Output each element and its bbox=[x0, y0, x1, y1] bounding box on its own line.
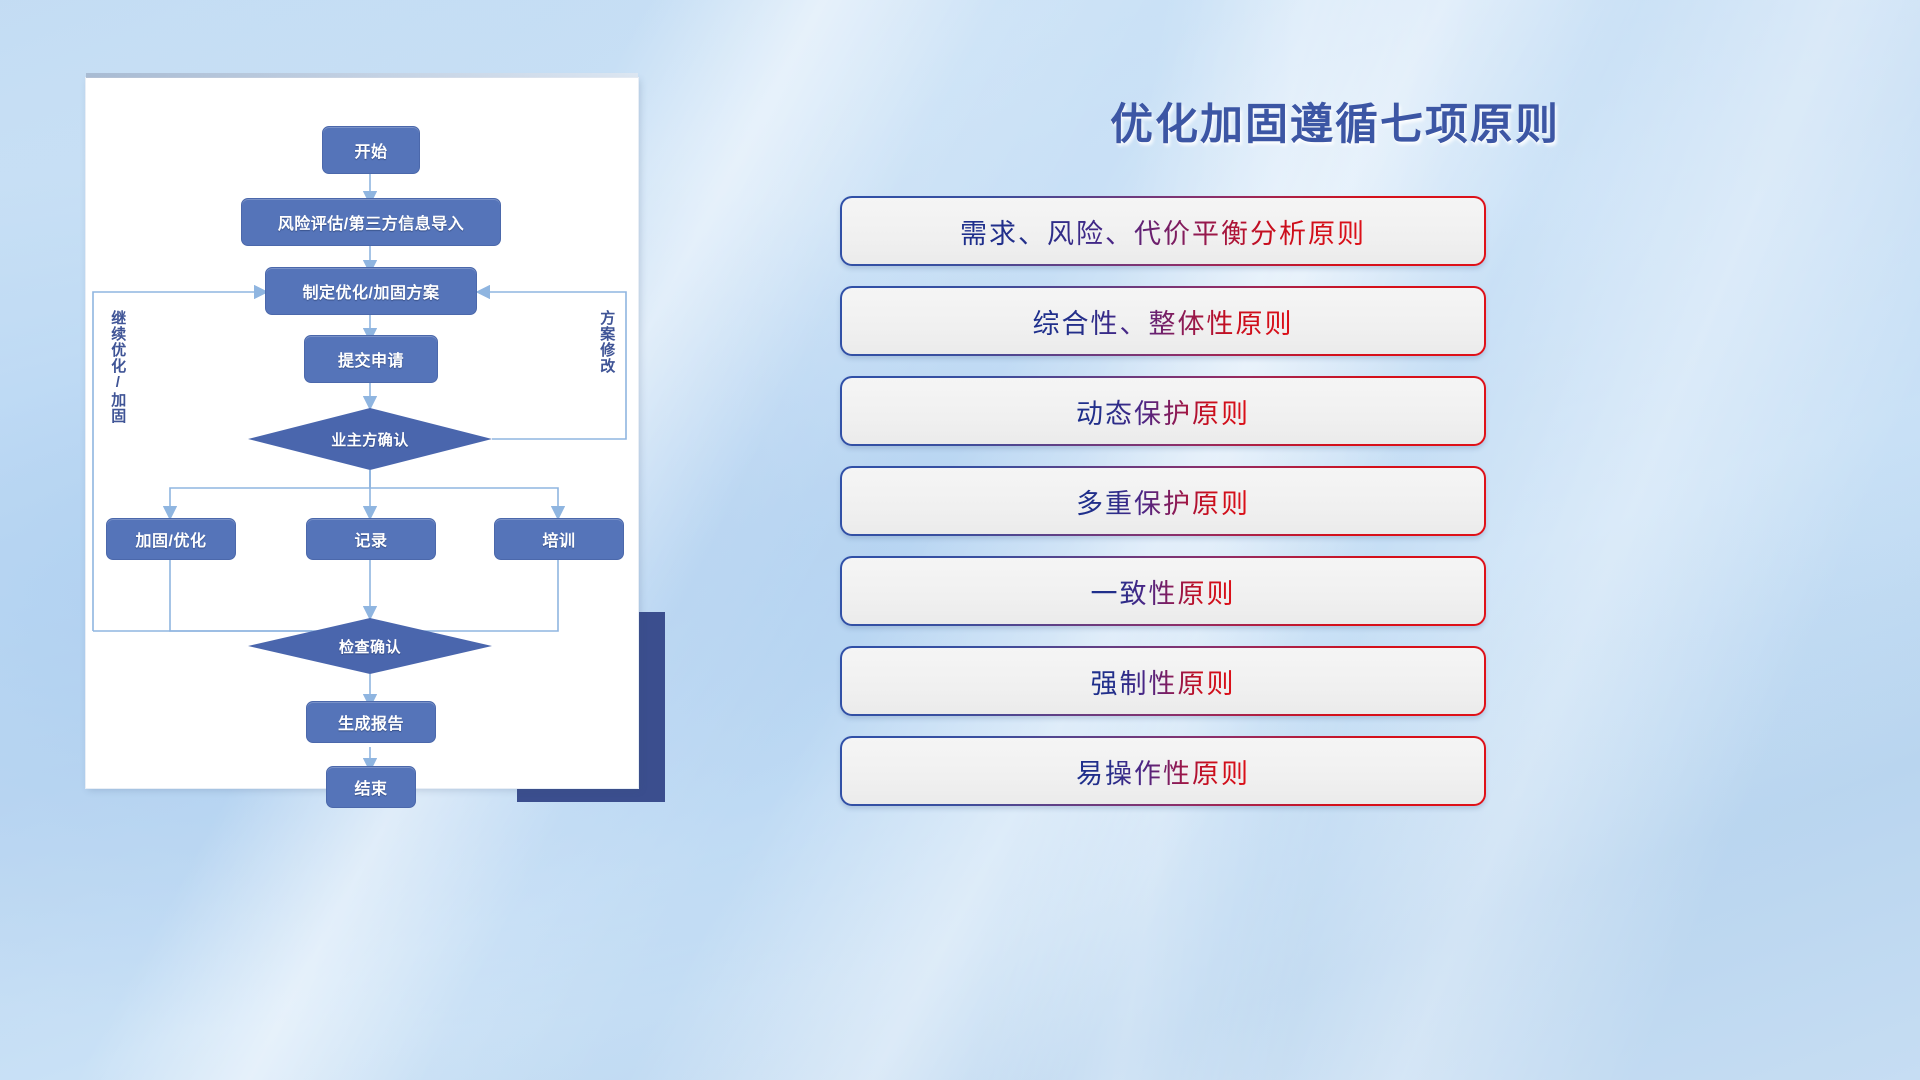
principle-label: 强制性原则 bbox=[1091, 662, 1236, 701]
flow-node-generate-report[interactable]: 生成报告 bbox=[306, 701, 436, 743]
flow-node-label: 培训 bbox=[542, 527, 575, 551]
principle-label: 易操作性原则 bbox=[1076, 752, 1250, 791]
principle-label: 需求、风险、代价平衡分析原则 bbox=[960, 212, 1366, 251]
flow-node-plan[interactable]: 制定优化/加固方案 bbox=[265, 267, 477, 315]
principle-card-body: 综合性、整体性原则 bbox=[842, 288, 1484, 354]
principle-card-3[interactable]: 动态保护原则 bbox=[840, 376, 1486, 446]
principle-card-4[interactable]: 多重保护原则 bbox=[840, 466, 1486, 536]
flow-node-label: 生成报告 bbox=[338, 710, 404, 734]
flow-node-training[interactable]: 培训 bbox=[494, 518, 624, 560]
principle-label: 动态保护原则 bbox=[1076, 392, 1250, 431]
principle-card-body: 易操作性原则 bbox=[842, 738, 1484, 804]
flow-node-check-confirm[interactable]: 检查确认 bbox=[248, 618, 492, 674]
flowchart-card: 开始 风险评估/第三方信息导入 制定优化/加固方案 提交申请 业主方确认 加固/… bbox=[86, 78, 638, 788]
flow-node-risk-assessment[interactable]: 风险评估/第三方信息导入 bbox=[241, 198, 501, 246]
flow-node-label: 风险评估/第三方信息导入 bbox=[278, 210, 464, 234]
flow-node-label: 提交申请 bbox=[338, 347, 404, 371]
principle-label: 一致性原则 bbox=[1091, 572, 1236, 611]
principle-card-body: 需求、风险、代价平衡分析原则 bbox=[842, 198, 1484, 264]
principle-card-2[interactable]: 综合性、整体性原则 bbox=[840, 286, 1486, 356]
flow-node-label: 业主方确认 bbox=[248, 408, 492, 470]
panel-title: 优化加固遵循七项原则 bbox=[945, 90, 1725, 152]
principle-label: 综合性、整体性原则 bbox=[1033, 302, 1294, 341]
principle-card-body: 多重保护原则 bbox=[842, 468, 1484, 534]
principle-label: 多重保护原则 bbox=[1076, 482, 1250, 521]
principle-card-6[interactable]: 强制性原则 bbox=[840, 646, 1486, 716]
flow-node-submit-application[interactable]: 提交申请 bbox=[304, 335, 438, 383]
principles-panel: 优化加固遵循七项原则 需求、风险、代价平衡分析原则 综合性、整体性原则 动态保护… bbox=[835, 0, 1835, 1080]
flow-node-start[interactable]: 开始 bbox=[322, 126, 420, 174]
flow-node-label: 开始 bbox=[354, 138, 387, 162]
flow-edge-label-continue-optimize: 继续优化/加固 bbox=[110, 310, 125, 424]
principle-card-body: 动态保护原则 bbox=[842, 378, 1484, 444]
principle-card-7[interactable]: 易操作性原则 bbox=[840, 736, 1486, 806]
flow-node-label: 制定优化/加固方案 bbox=[303, 279, 440, 303]
flow-node-label: 结束 bbox=[354, 775, 387, 799]
flow-node-label: 记录 bbox=[354, 527, 387, 551]
flow-node-label: 检查确认 bbox=[248, 618, 492, 674]
principle-card-body: 一致性原则 bbox=[842, 558, 1484, 624]
flow-node-label: 加固/优化 bbox=[136, 527, 207, 551]
principle-card-1[interactable]: 需求、风险、代价平衡分析原则 bbox=[840, 196, 1486, 266]
flow-node-owner-confirm[interactable]: 业主方确认 bbox=[248, 408, 492, 470]
flow-edge-label-plan-revision: 方案修改 bbox=[599, 310, 614, 374]
principle-card-body: 强制性原则 bbox=[842, 648, 1484, 714]
flow-node-reinforce-optimize[interactable]: 加固/优化 bbox=[106, 518, 236, 560]
principle-card-5[interactable]: 一致性原则 bbox=[840, 556, 1486, 626]
flow-node-end[interactable]: 结束 bbox=[326, 766, 416, 808]
flow-node-record[interactable]: 记录 bbox=[306, 518, 436, 560]
